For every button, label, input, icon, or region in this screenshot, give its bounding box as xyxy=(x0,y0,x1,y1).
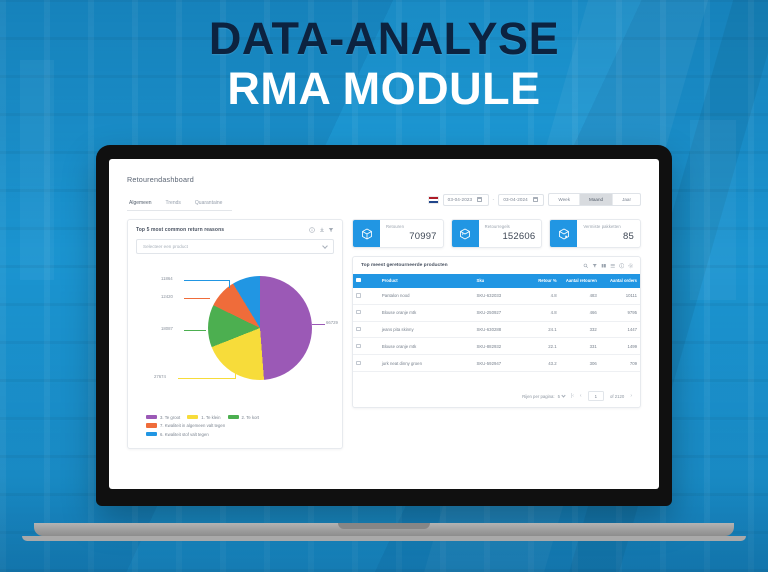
background-tile-1 xyxy=(690,120,736,300)
cell-aantal-retouren: 466 xyxy=(560,304,600,321)
legend-row-3: 6. Kwaliteit stof valt tegen xyxy=(146,432,332,437)
date-range-separator: - xyxy=(493,197,495,203)
col-aantal-retouren[interactable]: Aantal retouren xyxy=(560,274,600,288)
legend-label: 2. Te kort xyxy=(242,415,260,420)
return-reasons-title: Top 5 most common return reasons xyxy=(136,227,224,233)
period-jaar-button[interactable]: Jaar xyxy=(613,194,640,205)
table-header-bar: Top meest geretourneerde producten xyxy=(353,257,640,274)
dashboard-app: Retourendashboard Algemeen Trends Quaran… xyxy=(109,159,659,449)
settings-icon[interactable] xyxy=(628,263,634,269)
tab-quarantaine[interactable]: Quarantaine xyxy=(191,196,233,211)
cell-aantal-orders: 1499 xyxy=(600,338,640,355)
row-checkbox[interactable] xyxy=(356,344,361,349)
rows-per-page-select[interactable]: 5 xyxy=(558,394,565,399)
pie-leader-blue xyxy=(184,280,230,281)
legend-swatch-purple xyxy=(146,415,157,420)
return-reasons-card: Top 5 most common return reasons Selecte… xyxy=(127,219,343,449)
info-icon[interactable] xyxy=(309,227,315,233)
col-product[interactable]: Product xyxy=(379,274,474,288)
product-select[interactable]: Selecteer een product xyxy=(136,239,334,254)
promo-headline: DATA-ANALYSE RMA MODULE xyxy=(0,16,768,115)
kpi-vermiste-pakketten[interactable]: Vermiste pakketten 85 xyxy=(549,219,641,248)
density-icon[interactable] xyxy=(610,263,616,269)
pie-value-green: 18087 xyxy=(161,326,173,331)
cell-aantal-orders: 709 xyxy=(600,355,640,372)
cell-aantal-retouren: 306 xyxy=(560,355,600,372)
return-reasons-actions xyxy=(309,227,334,233)
cell-product: Blouse oranje mtk xyxy=(379,304,474,321)
current-page-input[interactable]: 1 xyxy=(588,391,604,401)
table-header-row: Product Sku Retour % Aantal retouren Aan… xyxy=(353,274,640,288)
period-segmented-control: Week Maand Jaar xyxy=(548,193,641,206)
headline-line-1: DATA-ANALYSE xyxy=(0,16,768,63)
legend-item-kwaliteit-stof[interactable]: 6. Kwaliteit stof valt tegen xyxy=(146,432,209,437)
cell-retour-pct: 4.8 xyxy=(528,288,560,304)
pie-legend: 3. Te groot 1. Te klein 2. Te kort xyxy=(136,415,334,441)
legend-row-2: 7. Kwaliteit in algemeen valt tegen xyxy=(146,423,332,428)
kpi-vermiste-body: Vermiste pakketten 85 xyxy=(577,220,640,247)
legend-swatch-yellow xyxy=(187,415,198,420)
legend-label: 3. Te groot xyxy=(160,415,180,420)
select-all-checkbox[interactable] xyxy=(356,278,361,283)
rows-per-page: Rijen per pagina: 5 xyxy=(522,394,565,399)
col-retour-pct[interactable]: Retour % xyxy=(528,274,560,288)
cell-sku: SKU-250927 xyxy=(474,304,529,321)
row-checkbox-cell[interactable] xyxy=(353,288,379,304)
cell-retour-pct: 43.2 xyxy=(528,355,560,372)
kpi-vermiste-value: 85 xyxy=(583,231,634,242)
prev-page-icon[interactable]: ‹ xyxy=(580,393,582,399)
cell-aantal-retouren: 331 xyxy=(560,338,600,355)
cell-retour-pct: 4.8 xyxy=(528,304,560,321)
legend-label: 1. Te klein xyxy=(201,415,220,420)
filter-icon[interactable] xyxy=(328,227,334,233)
pie-value-orange: 12420 xyxy=(161,294,173,299)
date-range-controls: 03-04-2023 - 03-04-2024 Week Maand Jaar xyxy=(428,193,641,206)
top-returned-products-card: Top meest geretourneerde producten xyxy=(352,256,641,408)
table-body: Pantalon nood SKU-632033 4.8 483 10111 B… xyxy=(353,288,640,372)
legend-label: 6. Kwaliteit stof valt tegen xyxy=(160,432,209,437)
kpi-retouren[interactable]: Retouren 70997 xyxy=(352,219,444,248)
tab-trends[interactable]: Trends xyxy=(162,196,191,211)
cell-sku: SKU-630288 xyxy=(474,321,529,338)
laptop-foot xyxy=(22,536,746,541)
row-checkbox-cell[interactable] xyxy=(353,304,379,321)
kpi-retouren-label: Retouren xyxy=(386,224,437,229)
filter-icon[interactable] xyxy=(592,263,598,269)
pie-leader-yellow xyxy=(178,378,236,379)
date-from-field[interactable]: 03-04-2023 xyxy=(443,194,489,206)
calendar-icon xyxy=(533,197,538,202)
row-checkbox[interactable] xyxy=(356,293,361,298)
pie-value-purple: 66729 xyxy=(326,320,338,325)
col-aantal-orders[interactable]: Aantal orders xyxy=(600,274,640,288)
cell-sku: SKU-632033 xyxy=(474,288,529,304)
return-reasons-header: Top 5 most common return reasons xyxy=(136,227,334,233)
cell-product: Pantalon nood xyxy=(379,288,474,304)
cell-aantal-retouren: 483 xyxy=(560,288,600,304)
kpi-vermiste-label: Vermiste pakketten xyxy=(583,224,634,229)
laptop-base xyxy=(34,523,734,536)
kpi-row: Retouren 70997 Retourregels xyxy=(352,219,641,248)
pie-value-yellow: 27674 xyxy=(154,374,166,379)
return-reasons-pie[interactable] xyxy=(208,276,312,380)
legend-item-te-klein[interactable]: 1. Te klein xyxy=(187,415,220,420)
table-pagination: Rijen per pagina: 5 |‹ ‹ 1 of 2120 xyxy=(353,386,640,407)
chevron-down-icon xyxy=(561,393,565,397)
pie-leader-green xyxy=(184,330,206,331)
cell-aantal-orders: 10111 xyxy=(600,288,640,304)
rows-per-page-value: 5 xyxy=(558,394,560,399)
cell-aantal-retouren: 332 xyxy=(560,321,600,338)
chevron-down-icon xyxy=(322,243,328,249)
package-missing-icon xyxy=(550,220,577,247)
right-column: Retouren 70997 Retourregels xyxy=(352,219,641,449)
laptop-lid: Retourendashboard Algemeen Trends Quaran… xyxy=(96,145,672,506)
legend-swatch-orange xyxy=(146,423,157,428)
cell-retour-pct: 24.1 xyxy=(528,321,560,338)
kpi-retourregels-label: Retourregels xyxy=(485,224,536,229)
download-icon[interactable] xyxy=(319,227,325,233)
laptop-screen: Retourendashboard Algemeen Trends Quaran… xyxy=(109,159,659,489)
table-title: Top meest geretourneerde producten xyxy=(361,263,448,268)
legend-label: 7. Kwaliteit in algemeen valt tegen xyxy=(160,423,225,428)
product-select-placeholder: Selecteer een product xyxy=(143,244,188,249)
rows-per-page-label: Rijen per pagina: xyxy=(522,394,555,399)
pie-chart-area: 11864 12420 18087 27674 66729 xyxy=(136,258,334,413)
table-row[interactable]: Pantalon nood SKU-632033 4.8 483 10111 xyxy=(353,288,640,304)
legend-item-te-groot[interactable]: 3. Te groot xyxy=(146,415,180,420)
row-checkbox-cell[interactable] xyxy=(353,321,379,338)
select-all-header[interactable] xyxy=(353,274,379,288)
legend-swatch-blue xyxy=(146,432,157,437)
dashboard-grid: Top 5 most common return reasons Selecte… xyxy=(127,219,641,449)
kpi-retouren-value: 70997 xyxy=(386,231,437,242)
date-from-value: 03-04-2023 xyxy=(448,197,473,202)
table-row[interactable]: Blouse oranje mtk SKU-250927 4.8 466 979… xyxy=(353,304,640,321)
dashboard-toolbar: Algemeen Trends Quarantaine 03-04-2023 xyxy=(127,193,641,211)
legend-item-te-kort[interactable]: 2. Te kort xyxy=(228,415,260,420)
legend-row-1: 3. Te groot 1. Te klein 2. Te kort xyxy=(146,415,332,420)
table-actions xyxy=(583,263,634,269)
table-row[interactable]: Blouse oranje mtk SKU-882932 22.1 331 14… xyxy=(353,338,640,355)
cell-aantal-orders: 9795 xyxy=(600,304,640,321)
date-to-value: 03-04-2024 xyxy=(503,197,528,202)
calendar-icon xyxy=(477,197,482,202)
row-checkbox-cell[interactable] xyxy=(353,355,379,372)
pie-leader-yellow-v xyxy=(235,370,236,379)
left-column: Top 5 most common return reasons Selecte… xyxy=(127,219,343,449)
columns-icon[interactable] xyxy=(601,263,607,269)
table-head: Product Sku Retour % Aantal retouren Aan… xyxy=(353,274,640,288)
dashboard-tabs: Algemeen Trends Quarantaine xyxy=(127,195,232,211)
row-checkbox[interactable] xyxy=(356,327,361,332)
pie-value-blue: 11864 xyxy=(161,276,173,281)
total-pages-label: of 2120 xyxy=(610,394,624,399)
headline-line-2: RMA MODULE xyxy=(0,63,768,115)
first-page-icon[interactable]: |‹ xyxy=(571,393,574,399)
table-row[interactable]: jurk neat dinny groen SKU-592947 43.2 30… xyxy=(353,355,640,372)
package-icon xyxy=(353,220,380,247)
kpi-retourregels-value: 152606 xyxy=(485,231,536,242)
nl-flag-icon[interactable] xyxy=(428,196,439,204)
kpi-retouren-body: Retouren 70997 xyxy=(380,220,443,247)
period-maand-button[interactable]: Maand xyxy=(580,194,613,205)
laptop-mockup: Retourendashboard Algemeen Trends Quaran… xyxy=(96,145,672,506)
cell-retour-pct: 22.1 xyxy=(528,338,560,355)
row-checkbox[interactable] xyxy=(356,310,361,315)
cell-sku: SKU-882932 xyxy=(474,338,529,355)
info-icon[interactable] xyxy=(619,263,625,269)
cell-aantal-orders: 1447 xyxy=(600,321,640,338)
tab-algemeen[interactable]: Algemeen xyxy=(127,196,162,211)
next-page-icon[interactable]: › xyxy=(630,393,632,399)
pie-leader-blue-v xyxy=(229,280,230,288)
table-row[interactable]: jeans pita skinny SKU-630288 24.1 332 14… xyxy=(353,321,640,338)
cell-product: Blouse oranje mtk xyxy=(379,338,474,355)
package-lines-icon xyxy=(452,220,479,247)
page-title: Retourendashboard xyxy=(127,175,641,184)
cell-product: jurk neat dinny groen xyxy=(379,355,474,372)
kpi-retourregels-body: Retourregels 152606 xyxy=(479,220,542,247)
legend-swatch-green xyxy=(228,415,239,420)
row-checkbox-cell[interactable] xyxy=(353,338,379,355)
col-sku[interactable]: Sku xyxy=(474,274,529,288)
cell-sku: SKU-592947 xyxy=(474,355,529,372)
cell-product: jeans pita skinny xyxy=(379,321,474,338)
pie-leader-orange xyxy=(184,298,210,299)
search-icon[interactable] xyxy=(583,263,589,269)
row-checkbox[interactable] xyxy=(356,361,361,366)
kpi-retourregels[interactable]: Retourregels 152606 xyxy=(451,219,543,248)
pie-leader-purple xyxy=(312,324,325,325)
top-returned-products-table: Product Sku Retour % Aantal retouren Aan… xyxy=(353,274,640,373)
legend-item-kwaliteit-algemeen[interactable]: 7. Kwaliteit in algemeen valt tegen xyxy=(146,423,225,428)
period-week-button[interactable]: Week xyxy=(549,194,580,205)
date-to-field[interactable]: 03-04-2024 xyxy=(498,194,544,206)
